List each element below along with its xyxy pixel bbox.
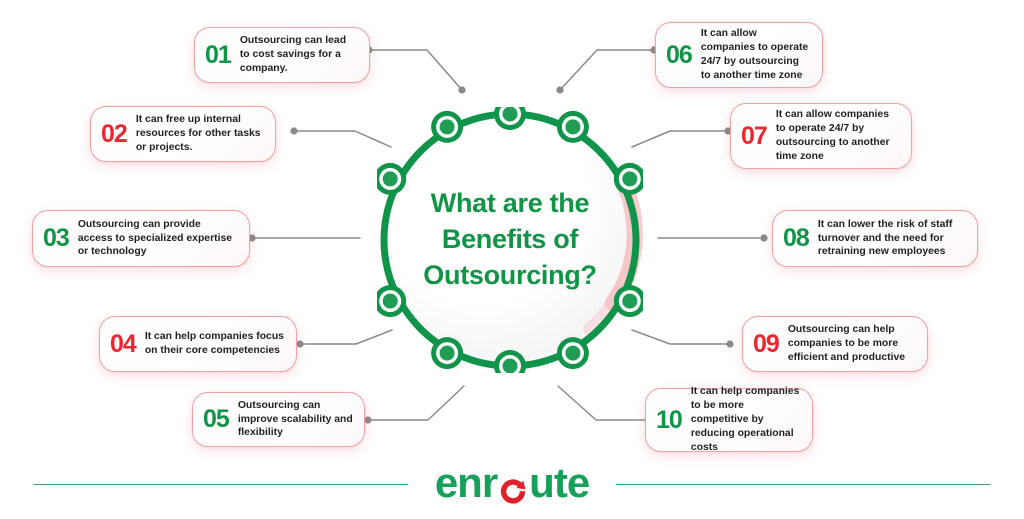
benefit-text-01: Outsourcing can lead to cost savings for… <box>240 34 358 76</box>
enroute-logo: enr ute <box>424 458 600 508</box>
circular-arrow-icon <box>498 468 528 498</box>
benefit-text-04: It can help companies focus on their cor… <box>145 330 285 358</box>
benefit-card-08[interactable]: 08 It can lower the risk of staff turnov… <box>772 210 978 267</box>
center-title: What are the Benefits of Outsourcing? <box>377 107 643 373</box>
benefit-card-03[interactable]: 03 Outsourcing can provide access to spe… <box>32 210 250 267</box>
benefit-card-09[interactable]: 09 Outsourcing can help companies to be … <box>742 316 928 372</box>
connector-dot <box>296 340 303 347</box>
benefit-number-09: 09 <box>753 332 779 357</box>
benefit-text-10: It can help companies to be more competi… <box>691 385 801 455</box>
benefit-number-06: 06 <box>666 43 692 68</box>
benefit-number-07: 07 <box>741 124 767 149</box>
benefit-number-04: 04 <box>110 332 136 357</box>
title-line-3: Outsourcing? <box>423 258 596 294</box>
logo-text-before: enr <box>435 459 497 507</box>
benefit-card-05[interactable]: 05 Outsourcing can improve scalability a… <box>192 392 365 447</box>
benefit-number-03: 03 <box>43 226 69 251</box>
benefit-card-02[interactable]: 02 It can free up internal resources for… <box>90 106 276 162</box>
benefit-card-01[interactable]: 01 Outsourcing can lead to cost savings … <box>194 27 370 83</box>
connector-dot <box>556 86 563 93</box>
title-line-1: What are the <box>431 186 589 222</box>
benefit-number-02: 02 <box>101 122 127 147</box>
infographic-canvas: What are the Benefits of Outsourcing? 01… <box>0 0 1024 519</box>
benefit-text-05: Outsourcing can improve scalability and … <box>238 399 353 441</box>
benefit-card-04[interactable]: 04 It can help companies focus on their … <box>99 316 297 372</box>
connector-07 <box>632 131 728 147</box>
connector-dot <box>760 234 767 241</box>
benefit-text-09: Outsourcing can help companies to be mor… <box>788 323 916 365</box>
center-circle-group: What are the Benefits of Outsourcing? <box>377 107 643 373</box>
benefit-text-03: Outsourcing can provide access to specia… <box>78 218 238 260</box>
connector-dot <box>458 86 465 93</box>
benefit-text-06: It can allow companies to operate 24/7 b… <box>701 27 811 83</box>
logo-text-after: ute <box>529 459 589 507</box>
connector-05 <box>368 386 464 420</box>
divider-left <box>34 484 408 485</box>
benefit-number-05: 05 <box>203 407 229 432</box>
connector-09 <box>632 330 730 344</box>
connector-dot <box>290 127 297 134</box>
benefit-text-07: It can allow companies to operate 24/7 b… <box>776 108 900 164</box>
benefit-number-10: 10 <box>656 408 682 433</box>
benefit-number-01: 01 <box>205 43 231 68</box>
connector-dot <box>364 416 371 423</box>
divider-right <box>616 484 990 485</box>
benefit-number-08: 08 <box>783 226 809 251</box>
connector-06 <box>560 50 654 90</box>
benefit-text-08: It can lower the risk of staff turnover … <box>818 218 966 260</box>
benefit-card-06[interactable]: 06 It can allow companies to operate 24/… <box>655 22 823 88</box>
benefit-card-10[interactable]: 10 It can help companies to be more comp… <box>645 388 813 452</box>
connector-10 <box>558 386 654 420</box>
connector-01 <box>369 50 462 90</box>
benefit-text-02: It can free up internal resources for ot… <box>136 113 264 155</box>
benefit-card-07[interactable]: 07 It can allow companies to operate 24/… <box>730 103 912 169</box>
title-line-2: Benefits of <box>442 222 578 258</box>
connector-dot <box>726 340 733 347</box>
